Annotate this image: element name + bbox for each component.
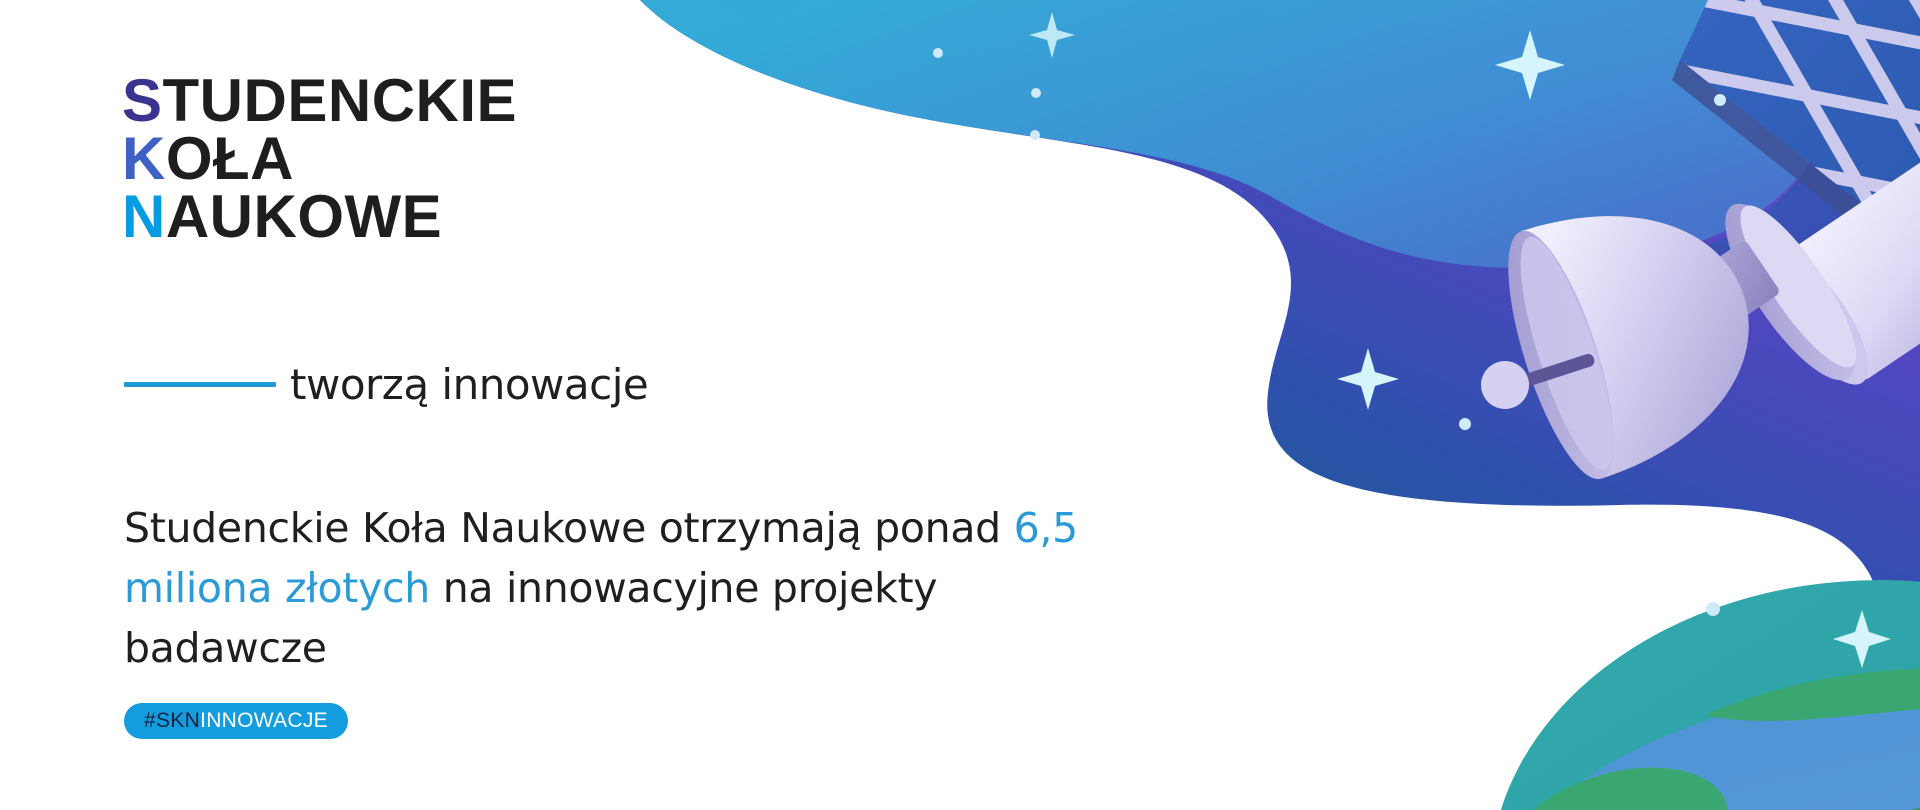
small-dot-star xyxy=(1459,418,1471,430)
tagline-text: tworzą innowacje xyxy=(290,360,648,409)
small-dot-star xyxy=(1706,602,1720,616)
body-copy-part-1: Studenckie Koła Naukowe otrzymają ponad xyxy=(124,504,1014,552)
logo-rest-2: OŁA xyxy=(166,125,294,192)
small-dot-star xyxy=(1714,94,1726,106)
logo-initial-n: N xyxy=(122,183,166,250)
tagline: tworzą innowacje xyxy=(124,360,648,409)
hashtag-suffix: INNOWACJE xyxy=(200,709,328,733)
logo-initial-s: S xyxy=(122,67,163,134)
earth-planet xyxy=(1490,580,1920,810)
logo-initial-k: K xyxy=(122,125,166,192)
tagline-rule-divider xyxy=(124,382,276,387)
hashtag-prefix: #SKN xyxy=(144,709,200,733)
logo-line-2: KOŁA xyxy=(122,130,517,188)
banner-content: STUDENCKIE KOŁA NAUKOWE tworzą innowacje… xyxy=(0,0,1100,810)
skn-innowacje-banner: STUDENCKIE KOŁA NAUKOWE tworzą innowacje… xyxy=(0,0,1920,810)
logo-line-1: STUDENCKIE xyxy=(122,72,517,130)
logo-rest-1: TUDENCKIE xyxy=(163,67,518,134)
dish-feed-knob xyxy=(1481,361,1529,409)
hashtag-badge[interactable]: #SKNINNOWACJE xyxy=(124,703,348,739)
body-copy: Studenckie Koła Naukowe otrzymają ponad … xyxy=(124,499,1144,679)
skn-logo: STUDENCKIE KOŁA NAUKOWE xyxy=(122,72,517,247)
logo-line-3: NAUKOWE xyxy=(122,188,517,246)
logo-rest-3: AUKOWE xyxy=(166,183,442,250)
